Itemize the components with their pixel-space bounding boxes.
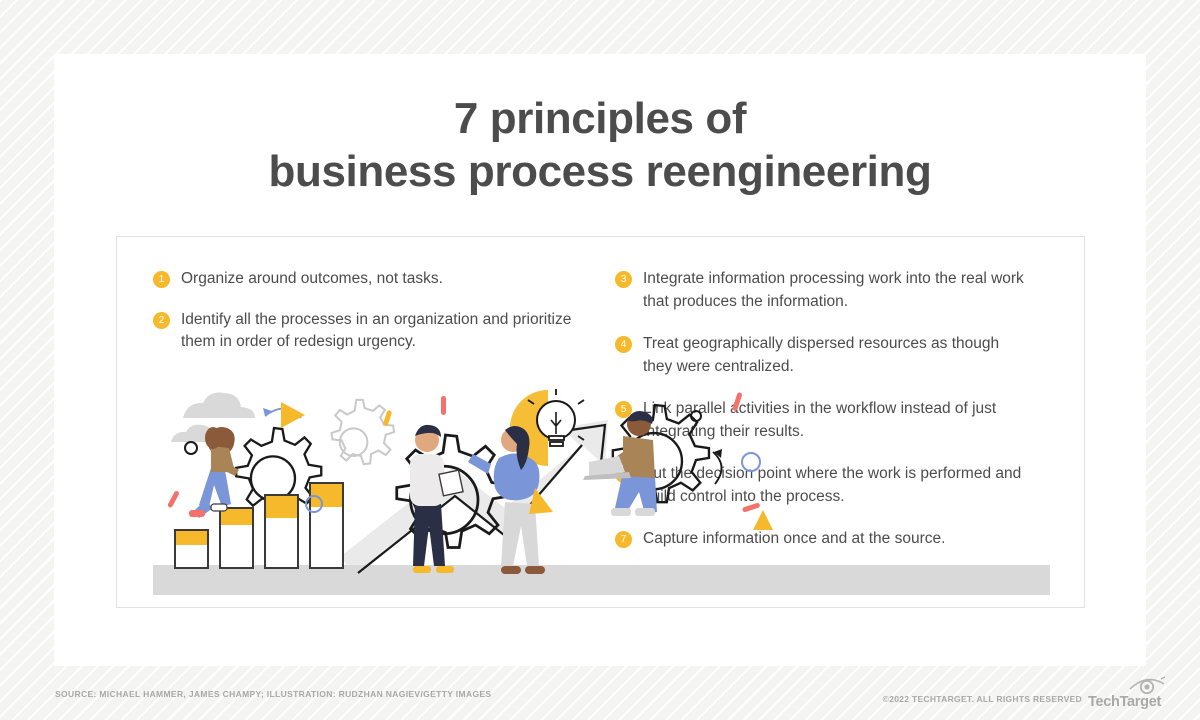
number-badge: 3 [615,271,632,288]
principles-panel: 1 Organize around outcomes, not tasks. 2… [116,236,1085,608]
principles-left-column: 1 Organize around outcomes, not tasks. 2… [153,268,583,372]
copyright-notice: ©2022 TECHTARGET. ALL RIGHTS RESERVED [883,694,1082,704]
title-line-2: business process reengineering [54,145,1146,198]
illustration: .gk { fill:none; stroke:#1a1a1a; stroke-… [153,380,1053,607]
list-item-text: Treat geographically dispersed resources… [643,335,999,375]
number-badge: 2 [153,312,170,329]
logo-wordmark: TechTarget [1088,694,1161,710]
ground-strip [153,565,1050,595]
content-card: 7 principles of business process reengin… [54,54,1146,666]
list-item-text: Organize around outcomes, not tasks. [181,270,443,287]
techtarget-logo[interactable]: TechTarget [1088,676,1172,710]
list-item-text: Integrate information processing work in… [643,270,1024,310]
page-title: 7 principles of business process reengin… [54,92,1146,198]
circle-decor [742,453,760,471]
list-item-text: Identify all the processes in an organiz… [181,311,571,351]
source-credit: SOURCE: MICHAEL HAMMER, JAMES CHAMPY; IL… [55,689,491,699]
dash-decor [441,396,446,415]
person-standing [410,425,463,573]
circle-decor [185,442,197,454]
number-badge: 1 [153,271,170,288]
triangle-decor [753,510,773,530]
triangle-decor [281,402,305,428]
dash-decor [742,502,761,512]
list-item: 4 Treat geographically dispersed resourc… [615,333,1030,378]
circle-decor [691,411,701,421]
growth-arrow-icon [341,420,608,576]
list-item: 3 Integrate information processing work … [615,268,1030,313]
dash-decor [732,392,743,412]
dash-decor [167,490,180,508]
gear-icon [332,400,395,464]
number-badge: 4 [615,336,632,353]
title-line-1: 7 principles of [454,94,746,143]
list-item: 2 Identify all the processes in an organ… [153,309,583,354]
list-item: 1 Organize around outcomes, not tasks. [153,268,583,291]
